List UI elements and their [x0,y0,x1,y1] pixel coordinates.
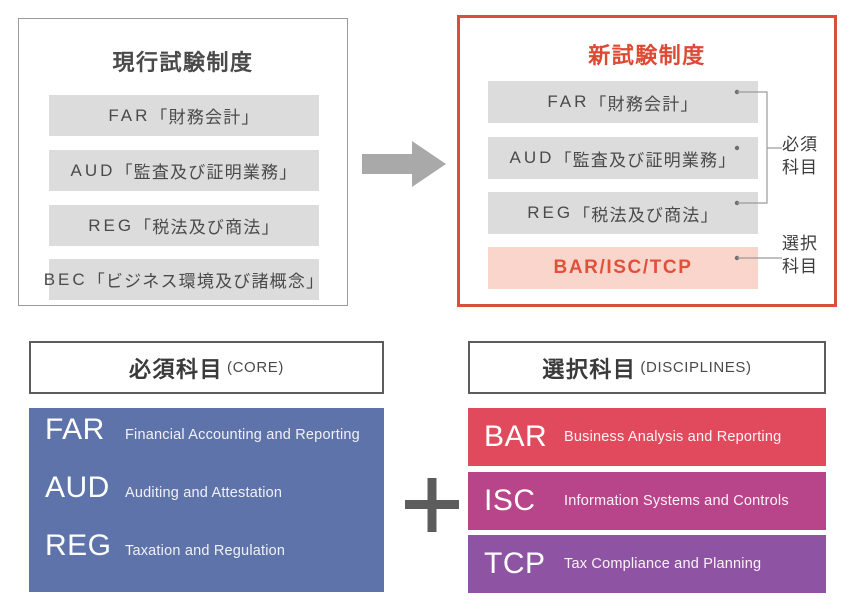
new-subject-reg-name: 「税法及び商法」 [573,201,719,226]
new-subject-aud: AUD「監査及び証明業務」 [488,137,758,179]
current-system-title: 現行試験制度 [19,45,347,77]
discipline-row-bar: BAR Business Analysis and Reporting [468,408,826,466]
arrow-right-icon [362,141,446,187]
current-exam-system-panel: 現行試験制度 FAR「財務会計」 AUD「監査及び証明業務」 REG「税法及び商… [18,18,348,306]
core-row-reg: REG Taxation and Regulation [29,529,384,587]
discipline-header-en: (DISCIPLINES) [640,359,751,376]
current-subject-bec-code: BEC [44,270,88,290]
side-label-core: 必須 科目 [782,133,818,179]
new-subject-disciplines-code: BAR/ISC/TCP [554,257,693,279]
current-subject-far-code: FAR [108,106,150,126]
diagram-canvas: 現行試験制度 FAR「財務会計」 AUD「監査及び証明業務」 REG「税法及び商… [0,0,852,609]
new-subject-aud-code: AUD [510,148,555,168]
core-header-jp: 必須科目 [129,352,223,384]
current-subject-reg: REG「税法及び商法」 [49,205,319,246]
current-subject-bec: BEC「ビジネス環境及び諸概念」 [49,259,319,300]
discipline-tcp-code: TCP [468,549,564,579]
side-label-discipline: 選択 科目 [782,232,818,278]
discipline-bar-desc: Business Analysis and Reporting [564,429,781,445]
discipline-isc-desc: Information Systems and Controls [564,493,789,509]
new-subject-far-name: 「財務会計」 [589,90,698,115]
core-section-header: 必須科目 (CORE) [29,341,384,394]
current-subject-far-name: 「財務会計」 [150,103,259,128]
core-aud-desc: Auditing and Attestation [125,485,282,501]
core-reg-desc: Taxation and Regulation [125,543,285,559]
current-subject-reg-name: 「税法及び商法」 [134,213,280,238]
discipline-row-tcp: TCP Tax Compliance and Planning [468,535,826,593]
core-row-aud: AUD Auditing and Attestation [29,471,384,529]
core-far-desc: Financial Accounting and Reporting [125,427,360,443]
core-row-far: FAR Financial Accounting and Reporting [29,413,384,471]
discipline-header-jp: 選択科目 [542,352,636,384]
core-reg-code: REG [29,529,125,563]
core-aud-code: AUD [29,471,125,505]
discipline-section-header: 選択科目 (DISCIPLINES) [468,341,826,394]
current-subject-aud-code: AUD [71,161,116,181]
discipline-row-isc: ISC Information Systems and Controls [468,472,826,530]
new-subject-far: FAR「財務会計」 [488,81,758,123]
new-subject-reg: REG「税法及び商法」 [488,192,758,234]
current-subject-aud-name: 「監査及び証明業務」 [115,158,297,183]
discipline-bar-code: BAR [468,422,564,452]
current-subject-far: FAR「財務会計」 [49,95,319,136]
current-subject-aud: AUD「監査及び証明業務」 [49,150,319,191]
core-far-code: FAR [29,413,125,447]
new-subject-reg-code: REG [527,203,573,223]
current-subject-reg-code: REG [88,216,134,236]
new-subject-aud-name: 「監査及び証明業務」 [554,146,736,171]
discipline-isc-code: ISC [468,486,564,516]
core-subjects-block: FAR Financial Accounting and Reporting A… [29,408,384,592]
core-header-en: (CORE) [227,359,284,376]
new-subject-disciplines: BAR/ISC/TCP [488,247,758,289]
new-subject-far-code: FAR [547,92,589,112]
discipline-tcp-desc: Tax Compliance and Planning [564,556,761,572]
plus-icon [405,478,459,532]
current-subject-bec-name: 「ビジネス環境及び諸概念」 [88,267,325,292]
